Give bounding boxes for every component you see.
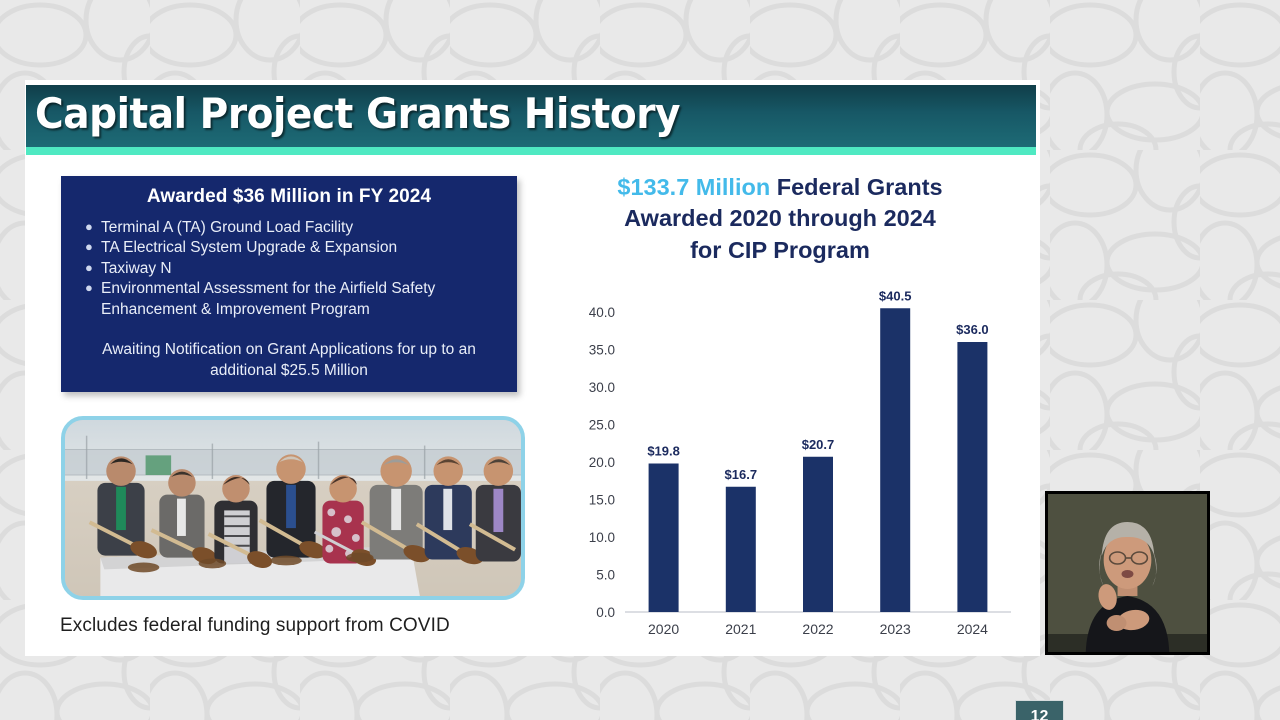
groundbreaking-ceremony-photo [61,416,525,600]
chart-bar-value-label: $20.7 [802,437,835,452]
chart-ytick-label: 40.0 [589,305,615,320]
title-underline-accent [26,147,1036,155]
chart-xtick-label: 2021 [725,621,756,637]
photo-caption: Excludes federal funding support from CO… [60,615,450,637]
info-box-footer-note: Awaiting Notification on Grant Applicati… [75,340,503,382]
slide-title-bar: Capital Project Grants History [26,85,1036,147]
bullet-dot-icon: ● [85,218,101,236]
presentation-slide: Capital Project Grants History Awarded $… [25,80,1040,656]
list-item-label: Terminal A (TA) Ground Load Facility [101,218,503,238]
chart-ytick-label: 10.0 [589,530,615,545]
chart-bar-value-label: $16.7 [725,467,758,482]
chart-plot-area: 0.05.010.015.020.025.030.035.040.0 $19.8… [535,290,1025,642]
chart-bar [649,464,679,613]
chart-bar [726,487,756,612]
chart-ytick-label: 5.0 [596,568,615,583]
chart-title: $133.7 Million Federal Grants Awarded 20… [535,172,1025,266]
chart-title-line3: for CIP Program [690,237,870,263]
chart-xtick-label: 2023 [880,621,911,637]
list-item: ● Environmental Assessment for the Airfi… [85,279,503,320]
chart-title-rest: Federal Grants [770,174,942,200]
chart-bar [957,342,987,612]
list-item: ● Terminal A (TA) Ground Load Facility [85,218,503,238]
chart-bar [880,308,910,612]
list-item-label: Taxiway N [101,259,503,279]
chart-xtick-label: 2020 [648,621,679,637]
chart-title-accent: $133.7 Million [617,174,770,200]
list-item-label: TA Electrical System Upgrade & Expansion [101,238,503,258]
screen-root: Capital Project Grants History Awarded $… [0,0,1280,720]
chart-title-line2: Awarded 2020 through 2024 [624,205,936,231]
chart-xtick-label: 2022 [802,621,833,637]
chart-ytick-label: 0.0 [596,605,615,620]
chart-ytick-label: 25.0 [589,418,615,433]
awarded-grants-info-box: Awarded $36 Million in FY 2024 ● Termina… [61,176,517,392]
federal-grants-bar-chart: $133.7 Million Federal Grants Awarded 20… [535,172,1025,642]
chart-xtick-label: 2024 [957,621,988,637]
chart-ytick-label: 20.0 [589,455,615,470]
page-title: Capital Project Grants History [35,89,680,138]
bullet-dot-icon: ● [85,259,101,277]
chart-bar-value-label: $40.5 [879,290,912,303]
chart-bar [803,457,833,612]
info-box-heading: Awarded $36 Million in FY 2024 [75,186,503,208]
list-item-label: Environmental Assessment for the Airfiel… [101,279,503,320]
bullet-dot-icon: ● [85,279,101,297]
bullet-dot-icon: ● [85,238,101,256]
page-number-badge: 12 [1015,700,1064,720]
chart-ytick-label: 15.0 [589,493,615,508]
chart-ytick-label: 35.0 [589,343,615,358]
chart-bar-value-label: $19.8 [647,444,680,459]
sign-language-interpreter-inset [1045,491,1210,655]
chart-bar-value-label: $36.0 [956,322,989,337]
list-item: ● TA Electrical System Upgrade & Expansi… [85,238,503,258]
chart-ytick-label: 30.0 [589,380,615,395]
list-item: ● Taxiway N [85,259,503,279]
